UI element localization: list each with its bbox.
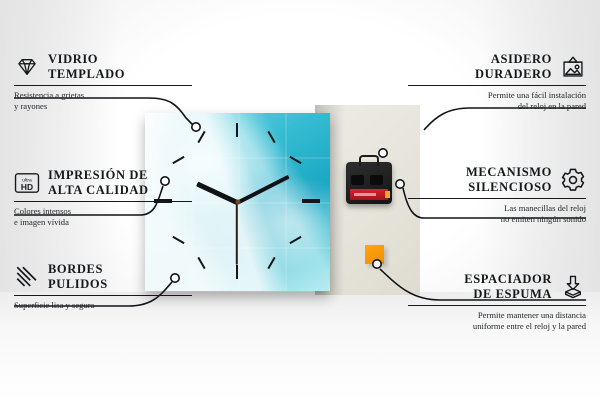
movement-slot-left <box>351 175 364 185</box>
divider <box>14 85 192 86</box>
svg-text:HD: HD <box>21 181 33 191</box>
hour-tick-3 <box>302 199 320 203</box>
gear-icon <box>560 167 586 193</box>
hour-tick-4 <box>289 236 301 244</box>
minute-hand <box>236 175 289 205</box>
hour-tick-1 <box>267 131 275 143</box>
hour-tick-11 <box>197 131 205 143</box>
feature-description: Las manecillas del reloj no emiten ningú… <box>408 203 586 224</box>
battery-label-stripe <box>354 193 376 196</box>
divider <box>408 198 586 199</box>
feature-description: Permite mantener una distancia uniforme … <box>408 310 586 331</box>
second-hand <box>236 203 238 265</box>
foam-spacer <box>365 245 384 264</box>
feature-description: Superficie lisa y segura <box>14 300 192 311</box>
feature-title: VIDRIO TEMPLADO <box>48 52 125 81</box>
feature-bordes-pulidos[interactable]: BORDES PULIDOS Superficie lisa y segura <box>14 262 192 311</box>
feature-title: ASIDERO DURADERO <box>475 52 552 81</box>
quartz-movement <box>346 162 392 204</box>
feature-description: Resistencia a grietas y rayones <box>14 90 192 111</box>
divider <box>14 295 192 296</box>
wall-hanger-icon <box>560 54 586 80</box>
feature-title: BORDES PULIDOS <box>48 262 108 291</box>
feature-mecanismo-silencioso[interactable]: MECANISMO SILENCIOSO Las manecillas del … <box>408 165 586 224</box>
feature-description: Colores intensos e imagen vívida <box>14 206 192 227</box>
clock-center-hub <box>235 200 240 205</box>
feature-vidrio-templado[interactable]: VIDRIO TEMPLADO Resistencia a grietas y … <box>14 52 192 111</box>
battery <box>350 189 388 200</box>
feature-title: ESPACIADOR DE ESPUMA <box>464 272 552 301</box>
hour-tick-7 <box>197 257 205 269</box>
foam-spacer-icon <box>560 274 586 300</box>
diamond-icon <box>14 54 40 80</box>
feature-espaciador-de-espuma[interactable]: ESPACIADOR DE ESPUMA Permite mantener un… <box>408 272 586 331</box>
divider <box>408 305 586 306</box>
feature-title: IMPRESIÓN DE ALTA CALIDAD <box>48 168 149 197</box>
divider <box>408 85 586 86</box>
feature-title: MECANISMO SILENCIOSO <box>466 165 552 194</box>
divider <box>14 201 192 202</box>
infographic-canvas: VIDRIO TEMPLADO Resistencia a grietas y … <box>0 0 600 400</box>
diagonal-lines-icon <box>14 264 40 290</box>
hour-tick-8 <box>172 236 184 244</box>
feature-description: Permite una fácil instalación del reloj … <box>408 90 586 111</box>
movement-hanger <box>359 155 379 166</box>
battery-positive-cap <box>385 191 390 198</box>
feature-asidero-duradero[interactable]: ASIDERO DURADERO Permite una fácil insta… <box>408 52 586 111</box>
feature-impresion-alta-calidad[interactable]: ultra HD IMPRESIÓN DE ALTA CALIDAD Color… <box>14 168 192 227</box>
hour-tick-5 <box>267 257 275 269</box>
movement-slot-right <box>370 175 383 185</box>
ultra-hd-icon: ultra HD <box>14 170 40 196</box>
hour-tick-12 <box>236 123 238 137</box>
hour-tick-6 <box>236 265 238 279</box>
